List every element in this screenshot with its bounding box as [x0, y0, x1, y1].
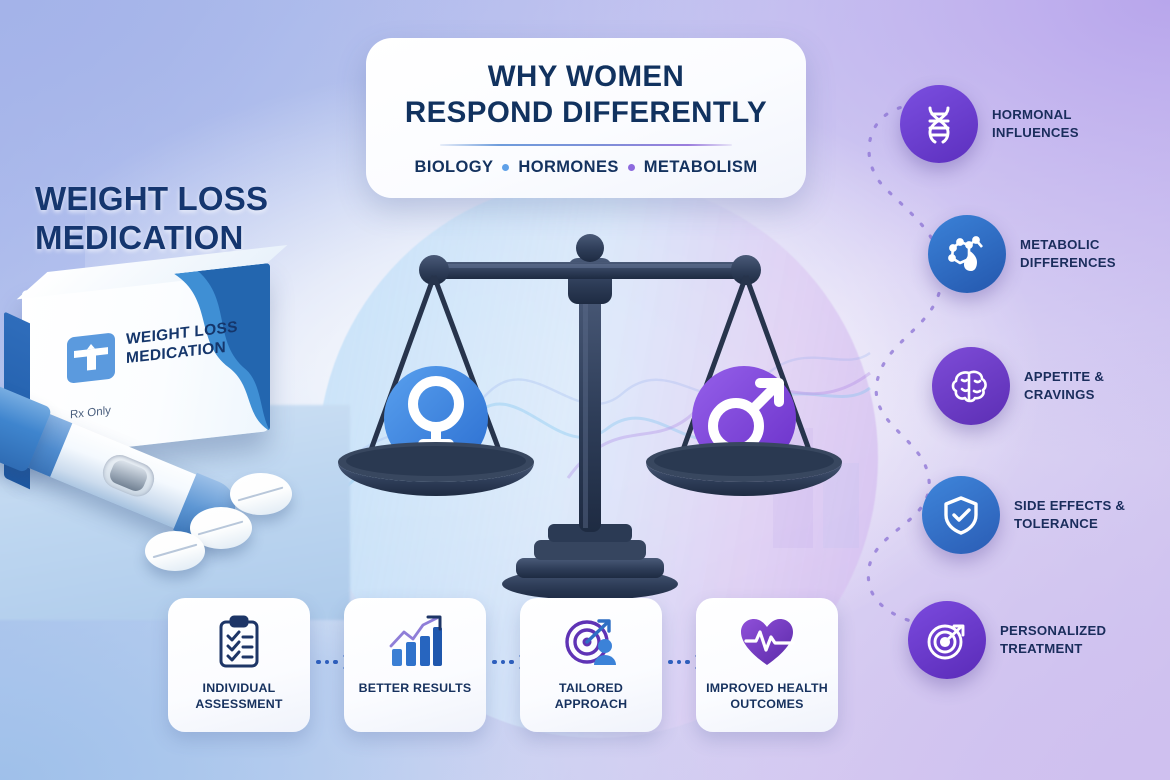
product-photo: WEIGHT LOSS MEDICATION Rx Only: [0, 255, 345, 610]
page-title-line1: WEIGHT LOSS: [35, 180, 335, 219]
shield-check-icon: [922, 476, 1000, 554]
metabolism-icon: [928, 215, 1006, 293]
sidebar-item-personalized-treatment[interactable]: PERSONALIZED TREATMENT: [908, 601, 1132, 679]
subtitle-item-biology: BIOLOGY: [415, 158, 494, 177]
sidebar-item-metabolic-differences[interactable]: METABOLIC DIFFERENCES: [928, 215, 1152, 293]
sidebar-item-appetite-cravings[interactable]: APPETITE & CRAVINGS: [932, 347, 1156, 425]
title-line-1: WHY WOMEN: [405, 59, 767, 95]
subtitle-item-metabolism: METABOLISM: [644, 158, 758, 177]
title-line-2: RESPOND DIFFERENTLY: [405, 95, 767, 131]
flow-step-individual-assessment[interactable]: INDIVIDUAL ASSESSMENT: [168, 598, 310, 732]
flow-step-improved-health-outcomes[interactable]: IMPROVED HEALTH OUTCOMES: [696, 598, 838, 732]
title-card-heading: WHY WOMEN RESPOND DIFFERENTLY: [405, 59, 767, 131]
title-card: WHY WOMEN RESPOND DIFFERENTLY BIOLOGY HO…: [366, 38, 806, 198]
title-subtitle: BIOLOGY HORMONES METABOLISM: [415, 158, 758, 177]
target-person-icon: [562, 613, 620, 671]
brain-icon: [932, 347, 1010, 425]
separator-dot-blue: [502, 164, 509, 171]
flow-step-tailored-approach[interactable]: TAILORED APPROACH: [520, 598, 662, 732]
flow-step-label: BETTER RESULTS: [359, 680, 472, 696]
flow-step-better-results[interactable]: BETTER RESULTS: [344, 598, 486, 732]
separator-dot-purple: [628, 164, 635, 171]
process-flow: INDIVIDUAL ASSESSMENT BETTER RESULTS: [168, 598, 838, 736]
heart-pulse-icon: [738, 613, 796, 671]
sidebar-item-side-effects-tolerance[interactable]: SIDE EFFECTS & TOLERANCE: [922, 476, 1146, 554]
title-divider: [440, 144, 732, 146]
dna-icon: [900, 85, 978, 163]
flow-step-label: IMPROVED HEALTH OUTCOMES: [706, 680, 828, 712]
page-title-line2: MEDICATION: [35, 219, 335, 258]
flow-step-label: TAILORED APPROACH: [555, 680, 628, 712]
page-title: WEIGHT LOSS MEDICATION: [35, 180, 335, 258]
sidebar-label: HORMONAL INFLUENCES: [992, 106, 1124, 142]
flow-step-label: INDIVIDUAL ASSESSMENT: [195, 680, 282, 712]
sidebar-label: APPETITE & CRAVINGS: [1024, 368, 1156, 404]
pill: [145, 531, 205, 571]
target-icon: [908, 601, 986, 679]
infographic-canvas: WEIGHT LOSS MEDICATION WEIG: [0, 0, 1170, 780]
pill: [230, 473, 292, 515]
sidebar-label: PERSONALIZED TREATMENT: [1000, 622, 1132, 658]
clipboard-checklist-icon: [210, 613, 268, 671]
sidebar-label: SIDE EFFECTS & TOLERANCE: [1014, 497, 1146, 533]
sidebar-item-hormonal-influences[interactable]: HORMONAL INFLUENCES: [900, 85, 1124, 163]
bar-chart-growth-icon: [386, 613, 444, 671]
balance-scale: [330, 218, 850, 600]
weight-scale-icon: [67, 332, 115, 383]
sidebar-label: METABOLIC DIFFERENCES: [1020, 236, 1152, 272]
subtitle-item-hormones: HORMONES: [518, 158, 618, 177]
